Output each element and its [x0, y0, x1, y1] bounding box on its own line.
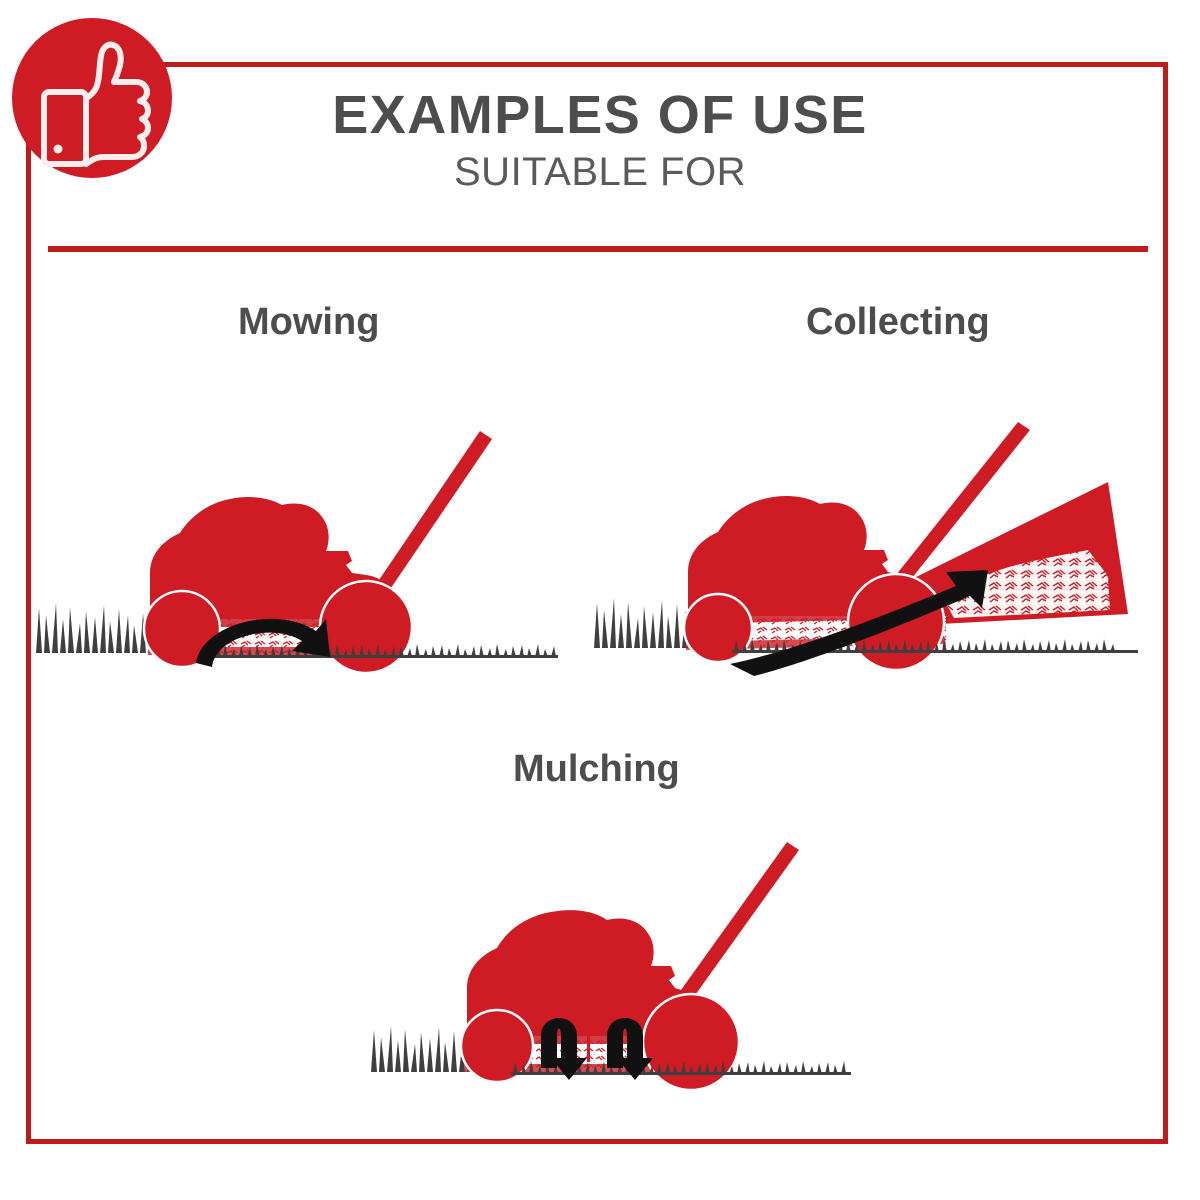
infographic-page: EXAMPLES OF USE SUITABLE FOR Mowing Coll…: [0, 0, 1200, 1200]
illustration-mowing: [30, 405, 570, 705]
page-subtitle: SUITABLE FOR: [0, 152, 1200, 192]
thumbs-up-badge: [12, 18, 172, 178]
rear-wheel: [643, 994, 739, 1090]
illustration-mulching: [355, 830, 895, 1100]
page-title: EXAMPLES OF USE: [0, 88, 1200, 142]
panel-label-mowing: Mowing: [238, 303, 379, 341]
rear-wheel: [320, 581, 412, 673]
mower-handle: [671, 842, 799, 1012]
header-divider: [48, 246, 1148, 252]
header-block: EXAMPLES OF USE SUITABLE FOR: [0, 88, 1200, 192]
panel-label-mulching: Mulching: [513, 750, 680, 788]
thumbs-up-icon: [12, 18, 172, 178]
illustration-collecting: [588, 400, 1158, 700]
deck-divider: [587, 1012, 590, 1062]
panel-label-collecting: Collecting: [806, 303, 990, 341]
